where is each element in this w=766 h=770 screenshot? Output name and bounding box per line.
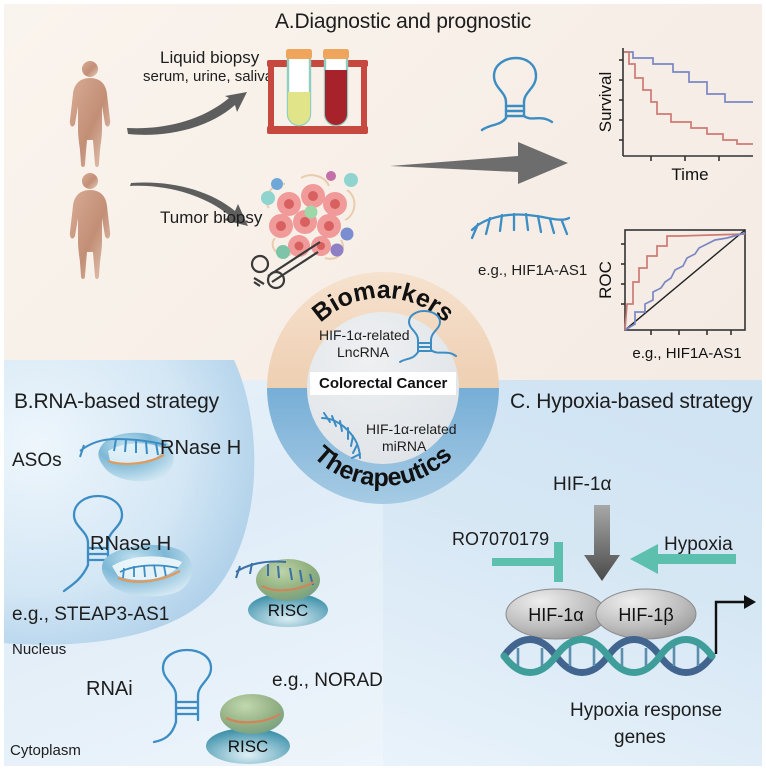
- arrow-to-liquid-biopsy-icon: [125, 92, 265, 138]
- hub-center-box: Colorectal Cancer: [310, 372, 456, 395]
- human-figure-top: [70, 61, 110, 167]
- risc-complex-lower-icon: RISC: [190, 690, 310, 766]
- hif-dimer-dna-group: HIF-1α HIF-1β: [500, 588, 760, 688]
- hypoxia-genes-label-line1: Hypoxia response: [570, 700, 722, 722]
- human-figure-group: [60, 60, 120, 280]
- panel-b-title: B.RNA-based strategy: [14, 390, 219, 414]
- big-right-arrow-icon: [390, 140, 570, 186]
- rnase-h-label-top: RNase H: [160, 437, 241, 460]
- inhibition-arrow-icon: [492, 540, 582, 586]
- dimer-beta-label: HIF-1β: [618, 605, 673, 625]
- hub-lncrna-icon: [396, 310, 458, 368]
- survival-plot: Survival Time: [595, 40, 760, 190]
- rnase-h-label-mid: RNase H: [90, 533, 171, 556]
- figure-root: A.Diagnostic and prognostic Liquid biops…: [0, 0, 766, 770]
- hub-lncrna-label-line2: LncRNA: [337, 344, 389, 360]
- human-figure-bottom: [70, 173, 110, 279]
- hub-mirna-label-line2: miRNA: [382, 438, 426, 454]
- roc-ylabel: ROC: [596, 261, 615, 299]
- nucleus-label: Nucleus: [12, 641, 66, 658]
- steap3-example-label: e.g., STEAP3-AS1: [12, 604, 169, 626]
- panel-a-title: A.Diagnostic and prognostic: [275, 10, 531, 34]
- rnai-label: RNAi: [86, 678, 133, 701]
- survival-ylabel: Survival: [596, 72, 615, 132]
- hif1a-top-label: HIF-1α: [553, 474, 611, 496]
- roc-xlabel: e.g., HIF1A-AS1: [632, 345, 741, 362]
- hif1a-down-arrow-icon: [582, 505, 622, 585]
- liquid-biopsy-label-line2: serum, urine, saliva: [143, 68, 273, 85]
- risc-label-lower: RISC: [228, 737, 269, 756]
- tumor-biopsy-label: Tumor biopsy: [160, 208, 262, 228]
- hypoxia-genes-label-line2: genes: [614, 727, 666, 749]
- panel-c-title: C. Hypoxia-based strategy: [510, 390, 752, 414]
- roc-plot: ROC e.g., HIF1A-AS1: [595, 220, 760, 365]
- hub-mirna-label-line1: HIF-1α-related: [366, 421, 457, 437]
- hub-mirna-icon: [320, 412, 372, 462]
- risc-complex-upper-icon: RISC: [232, 552, 342, 628]
- dimer-alpha-label: HIF-1α: [528, 605, 583, 625]
- asos-label: ASOs: [12, 450, 62, 472]
- risc-label-upper: RISC: [268, 601, 309, 620]
- test-tube-rack-icon: [265, 48, 370, 136]
- survival-xlabel: Time: [671, 165, 708, 184]
- mirna-icon: [468, 208, 573, 252]
- liquid-biopsy-label-line1: Liquid biopsy: [160, 48, 259, 68]
- lncrna-hairpin-icon: [468, 56, 560, 136]
- cytoplasm-label: Cytoplasm: [10, 742, 81, 759]
- norad-example-label: e.g., NORAD: [272, 670, 383, 692]
- hypoxia-label: Hypoxia: [664, 534, 733, 556]
